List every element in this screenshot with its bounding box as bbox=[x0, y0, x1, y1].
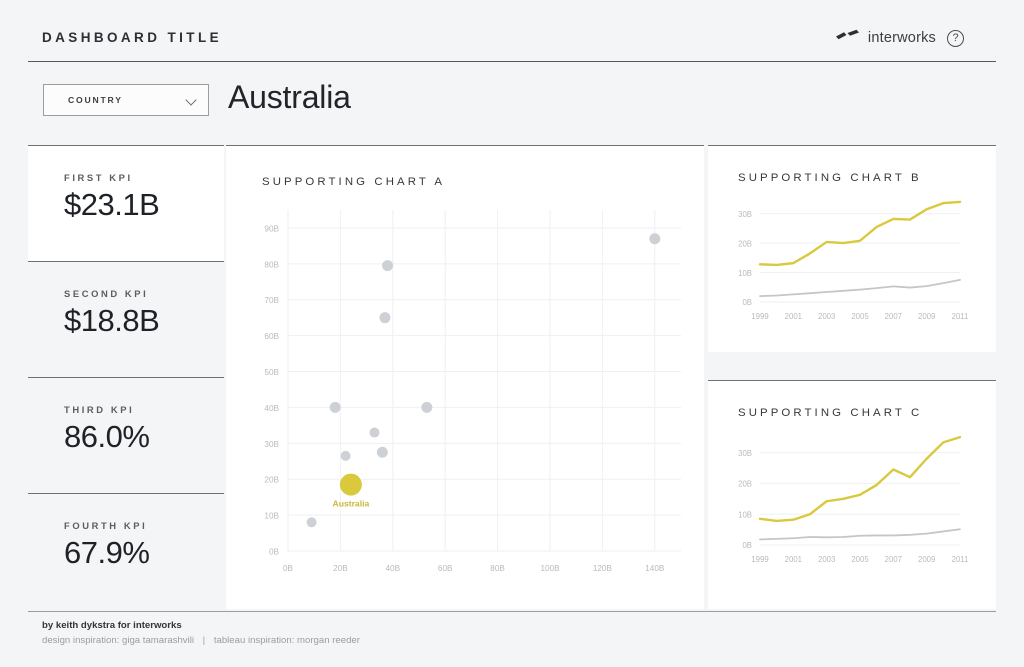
svg-text:Australia: Australia bbox=[332, 499, 369, 509]
kpi-value: $18.8B bbox=[64, 303, 224, 339]
dashboard-footer: by keith dykstra for interworks design i… bbox=[28, 611, 996, 646]
kpi-label: THIRD KPI bbox=[64, 404, 224, 415]
chevron-down-icon bbox=[187, 96, 196, 105]
svg-text:10B: 10B bbox=[738, 269, 752, 278]
footer-design-inspiration: design inspiration: giga tamarashvili bbox=[42, 635, 194, 646]
svg-text:30B: 30B bbox=[738, 449, 752, 458]
svg-text:90B: 90B bbox=[264, 224, 279, 233]
svg-text:0B: 0B bbox=[283, 564, 294, 573]
svg-text:2009: 2009 bbox=[918, 312, 935, 321]
supporting-chart-c-title: SUPPORTING CHART C bbox=[738, 407, 996, 419]
svg-text:2001: 2001 bbox=[785, 312, 802, 321]
svg-text:20B: 20B bbox=[264, 476, 279, 485]
svg-text:2011: 2011 bbox=[952, 312, 969, 321]
kpi-value: $23.1B bbox=[64, 187, 224, 223]
dashboard-header: DASHBOARD TITLE interworks ? bbox=[28, 22, 996, 62]
country-filter-dropdown[interactable]: COUNTRY bbox=[43, 84, 209, 116]
footer-credit: by keith dykstra for interworks bbox=[42, 620, 996, 631]
svg-text:2003: 2003 bbox=[818, 312, 835, 321]
svg-text:80B: 80B bbox=[264, 260, 279, 269]
svg-text:2003: 2003 bbox=[818, 555, 835, 564]
svg-text:2001: 2001 bbox=[785, 555, 802, 564]
supporting-chart-c-panel: SUPPORTING CHART C 0B10B20B30B1999200120… bbox=[708, 380, 996, 609]
svg-text:10B: 10B bbox=[264, 512, 279, 521]
supporting-chart-b-plot[interactable]: 0B10B20B30B1999200120032005200720092011 bbox=[708, 184, 996, 339]
svg-text:1999: 1999 bbox=[751, 555, 768, 564]
svg-text:2005: 2005 bbox=[851, 312, 869, 321]
svg-text:1999: 1999 bbox=[751, 312, 768, 321]
footer-tableau-inspiration: tableau inspiration: morgan reeder bbox=[214, 635, 360, 646]
svg-text:20B: 20B bbox=[738, 480, 752, 489]
svg-text:0B: 0B bbox=[269, 548, 280, 557]
svg-text:40B: 40B bbox=[386, 564, 401, 573]
svg-text:2011: 2011 bbox=[952, 555, 969, 564]
svg-text:0B: 0B bbox=[742, 298, 752, 307]
svg-text:80B: 80B bbox=[490, 564, 505, 573]
kpi-label: SECOND KPI bbox=[64, 288, 224, 299]
svg-text:30B: 30B bbox=[264, 440, 279, 449]
supporting-chart-b-panel: SUPPORTING CHART B 0B10B20B30B1999200120… bbox=[708, 145, 996, 352]
svg-text:70B: 70B bbox=[264, 296, 279, 305]
help-question-icon[interactable]: ? bbox=[947, 30, 964, 47]
svg-text:60B: 60B bbox=[438, 564, 453, 573]
svg-text:2009: 2009 bbox=[918, 555, 935, 564]
kpi-label: FIRST KPI bbox=[64, 172, 224, 183]
kpi-column: FIRST KPI $23.1B SECOND KPI $18.8B THIRD… bbox=[28, 145, 224, 609]
footer-inspiration: design inspiration: giga tamarashvili | … bbox=[42, 635, 996, 646]
svg-text:2007: 2007 bbox=[885, 312, 902, 321]
page-title: DASHBOARD TITLE bbox=[42, 30, 222, 45]
selected-country-title: Australia bbox=[228, 79, 351, 116]
svg-text:40B: 40B bbox=[264, 404, 279, 413]
dashboard-page: DASHBOARD TITLE interworks ? COUNTRY Aus… bbox=[0, 0, 1024, 667]
kpi-label: FOURTH KPI bbox=[64, 520, 224, 531]
svg-text:60B: 60B bbox=[264, 332, 279, 341]
kpi-value: 86.0% bbox=[64, 419, 224, 455]
country-filter-label: COUNTRY bbox=[68, 95, 123, 105]
supporting-chart-b-title: SUPPORTING CHART B bbox=[738, 172, 996, 184]
brand-name: interworks bbox=[868, 30, 936, 46]
kpi-card-third[interactable]: THIRD KPI 86.0% bbox=[28, 377, 224, 493]
svg-text:0B: 0B bbox=[742, 541, 752, 550]
supporting-chart-a-title: SUPPORTING CHART A bbox=[262, 176, 704, 188]
kpi-card-first[interactable]: FIRST KPI $23.1B bbox=[28, 145, 224, 261]
supporting-chart-c-plot[interactable]: 0B10B20B30B1999200120032005200720092011 bbox=[708, 419, 996, 594]
brand-area: interworks ? bbox=[835, 29, 964, 47]
svg-text:30B: 30B bbox=[738, 210, 752, 219]
kpi-card-fourth[interactable]: FOURTH KPI 67.9% bbox=[28, 493, 224, 609]
svg-text:2005: 2005 bbox=[851, 555, 869, 564]
svg-text:50B: 50B bbox=[264, 368, 279, 377]
supporting-chart-a-plot[interactable]: 0B10B20B30B40B50B60B70B80B90B0B20B40B60B… bbox=[226, 188, 704, 588]
svg-text:100B: 100B bbox=[540, 564, 560, 573]
svg-text:140B: 140B bbox=[645, 564, 665, 573]
interworks-logo-icon bbox=[835, 29, 861, 47]
footer-separator: | bbox=[197, 635, 212, 646]
kpi-card-second[interactable]: SECOND KPI $18.8B bbox=[28, 261, 224, 377]
supporting-chart-a-panel: SUPPORTING CHART A 0B10B20B30B40B50B60B7… bbox=[226, 145, 704, 609]
svg-text:10B: 10B bbox=[738, 510, 752, 519]
svg-text:120B: 120B bbox=[593, 564, 613, 573]
svg-text:2007: 2007 bbox=[885, 555, 902, 564]
svg-text:20B: 20B bbox=[333, 564, 348, 573]
kpi-value: 67.9% bbox=[64, 535, 224, 571]
svg-text:20B: 20B bbox=[738, 239, 752, 248]
